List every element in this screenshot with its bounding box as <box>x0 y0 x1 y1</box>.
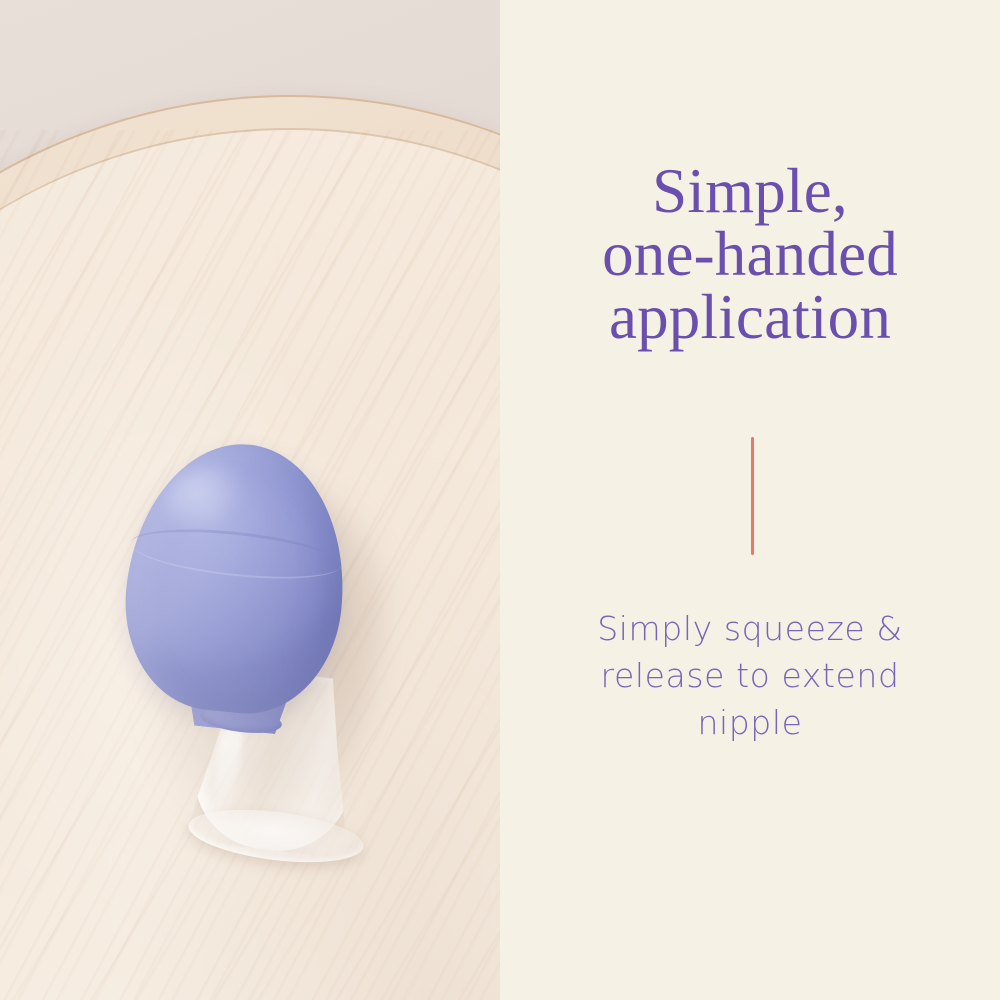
vertical-divider <box>751 437 754 555</box>
product-feature-graphic: Simple, one-handed application Simply sq… <box>0 0 1000 1000</box>
headline-line-1: Simple, <box>500 160 1000 223</box>
subtext-line-1: Simply squeeze & <box>534 606 966 653</box>
headline-line-3: application <box>500 286 1000 349</box>
subtext: Simply squeeze & release to extend nippl… <box>534 606 966 747</box>
text-panel: Simple, one-handed application Simply sq… <box>500 0 1000 1000</box>
headline: Simple, one-handed application <box>500 160 1000 349</box>
subtext-line-2: release to extend <box>534 653 966 700</box>
subtext-line-3: nipple <box>534 700 966 747</box>
headline-line-2: one-handed <box>500 223 1000 286</box>
nipple-everter-product <box>112 440 380 860</box>
product-photo-panel <box>0 0 500 1000</box>
